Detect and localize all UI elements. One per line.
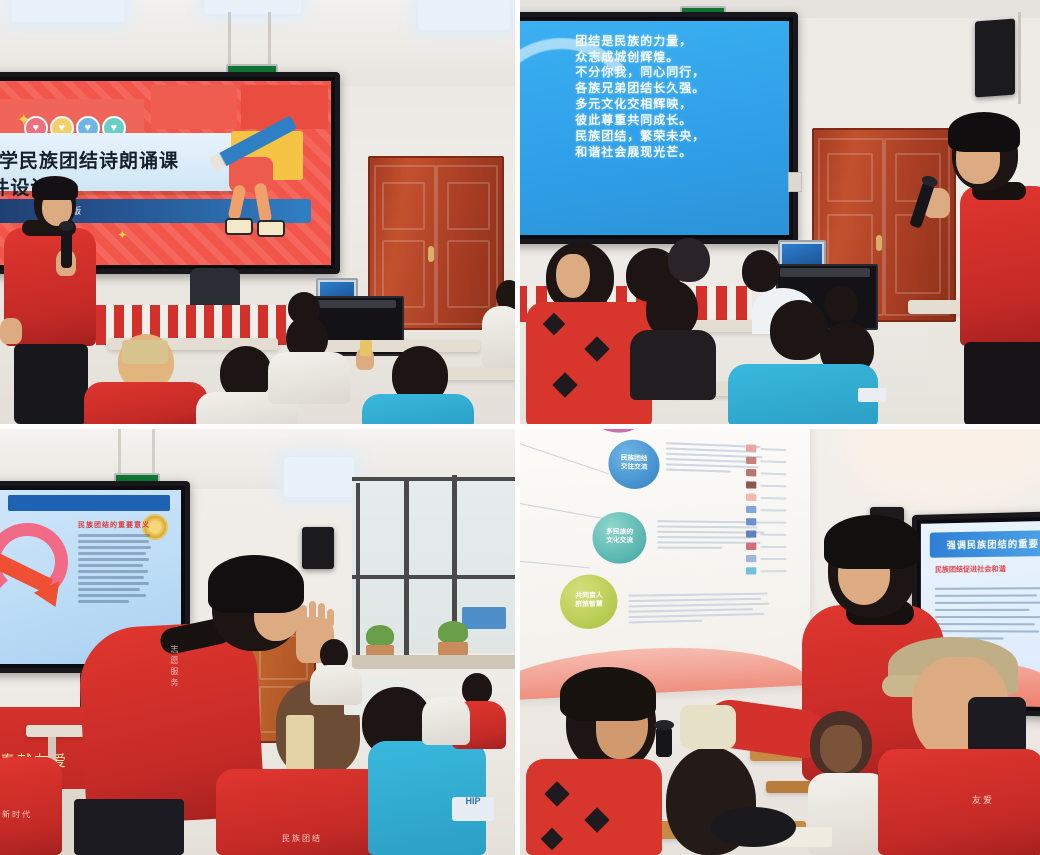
window-mullion — [404, 479, 409, 655]
hoodie-graphic: HIP — [452, 797, 494, 821]
legend-row — [746, 543, 786, 550]
plant-foliage — [438, 621, 468, 643]
student-hair — [560, 667, 656, 721]
student-head — [288, 292, 320, 324]
legend-row — [746, 518, 786, 526]
hair-clip-icon — [122, 340, 168, 364]
student-head — [824, 286, 858, 322]
decorative-blob — [595, 429, 640, 434]
node-label: 多民族的 文化交流 — [606, 529, 633, 546]
legend-row — [746, 555, 786, 562]
teacher-hair — [948, 112, 1020, 152]
door-panel — [447, 182, 491, 230]
slide-heading: 民族团结的重要意义 — [78, 520, 152, 530]
infographic-node-1: 民族团结 交往交流 — [608, 439, 659, 490]
student-torso — [84, 382, 208, 424]
collage-panel-bottom-right[interactable]: 民族团结 交往交流 多民族的 文化交流 共同富人 群策智慧 — [520, 429, 1040, 855]
teacher-torso — [960, 186, 1040, 346]
volunteer-trousers — [74, 799, 184, 855]
rack-handle — [780, 268, 870, 277]
presenter-trousers — [14, 344, 88, 424]
ceiling-light — [12, 0, 124, 22]
potted-plant — [438, 621, 468, 657]
poem-line: 和谐社会展现光芒。 — [575, 145, 745, 161]
tshirt-print: 友爱 — [972, 795, 1030, 827]
legend-row — [746, 481, 786, 489]
infographic-legend — [746, 444, 786, 579]
door-handle[interactable] — [876, 235, 882, 251]
ceiling-light — [284, 457, 354, 497]
legend-row — [746, 530, 786, 537]
text-line — [78, 594, 146, 597]
student-head — [668, 238, 710, 282]
infographic-paragraph — [629, 590, 773, 627]
volunteer-side-torso — [0, 757, 62, 855]
door-panel — [827, 153, 873, 203]
window-mullion — [356, 483, 360, 655]
connector-line — [520, 560, 590, 569]
wall-speaker — [302, 527, 334, 569]
ceiling-light — [418, 0, 510, 30]
student-torso — [630, 330, 716, 400]
slide-heading-text: 强调民族团结的重要 — [947, 537, 1039, 552]
collage-panel-top-left[interactable]: ▯↦▯ ✦ ✦ ♥ ♥ ♥ ♥ — [0, 0, 515, 424]
conduit — [1018, 12, 1021, 104]
slide-body-text — [935, 582, 1040, 645]
student-head — [742, 250, 780, 292]
slide-content-top-right: 团结是民族的力量， 众志成城创辉煌。 不分你我，同心同行， 各族兄弟团结长久强。… — [520, 21, 789, 235]
student-face — [556, 254, 590, 298]
slide-subheading: 民族团结促进社会和谐 — [935, 564, 1006, 575]
potted-plant — [366, 625, 394, 659]
rack-handle — [314, 300, 396, 308]
presenter-hand — [0, 318, 22, 344]
plant-foliage — [366, 625, 394, 646]
sparkle-icon: ✦ — [117, 228, 127, 242]
poem-line: 民族团结，繁荣未央， — [575, 129, 745, 145]
poem-line: 多元文化交相辉映， — [575, 97, 745, 113]
clothing-graphic — [858, 388, 886, 402]
display-screen: 团结是民族的力量， 众志成城创辉煌。 不分你我，同心同行， 各族兄弟团结长久强。… — [520, 21, 789, 235]
wall-speaker — [975, 19, 1015, 98]
finger — [309, 601, 316, 625]
collage-panel-top-right[interactable]: ▯↦▯ 团结是民族的力量， 众志成城创辉煌。 不分你我，同心同行， 各族兄弟团结… — [520, 0, 1040, 424]
sign-hanger — [268, 12, 271, 64]
window-mullion — [352, 477, 515, 481]
illustration-shoe — [257, 220, 285, 237]
student-torso — [268, 352, 350, 404]
collage-gutter-horizontal — [0, 424, 1040, 429]
microphone[interactable] — [656, 727, 672, 757]
illustration-leg — [227, 184, 246, 221]
text-line — [78, 546, 151, 549]
slide-text-column: 民族团结的重要意义 — [78, 520, 152, 606]
window-sill — [352, 655, 515, 669]
door-panel — [382, 182, 426, 230]
tshirt-print: 志愿服务 — [150, 645, 180, 703]
text-line — [78, 576, 144, 579]
poem-line: 彼此尊重共同成长。 — [575, 113, 745, 129]
neck-scarf — [968, 697, 1026, 755]
poem-line: 团结是民族的力量， — [575, 34, 745, 50]
student-face — [820, 725, 862, 773]
photo-collage: ▯↦▯ ✦ ✦ ♥ ♥ ♥ ♥ — [0, 0, 1040, 855]
student-torso — [728, 364, 878, 424]
connector-line — [520, 502, 612, 521]
node-label: 民族团结 交往交流 — [621, 456, 648, 474]
sign-hanger — [228, 12, 231, 64]
text-line — [78, 582, 149, 585]
collage-panel-bottom-left[interactable]: ▯↦▯ 民族团结的重要意义 — [0, 429, 515, 855]
volunteer-hair — [208, 555, 304, 613]
legend-row — [746, 444, 786, 453]
slide-top-bar — [8, 495, 170, 511]
tshirt-print: 新时代 — [2, 809, 58, 831]
legend-row — [746, 494, 786, 502]
held-cloth — [680, 705, 736, 749]
text-line — [78, 570, 148, 573]
teacher-trousers — [964, 342, 1040, 424]
text-line — [78, 588, 140, 591]
node-label: 共同富人 群策智慧 — [575, 593, 603, 610]
observer-torso — [422, 697, 470, 745]
text-line — [78, 534, 150, 537]
text-line — [78, 552, 146, 555]
projection-screen[interactable]: 团结是民族的力量， 众志成城创辉煌。 不分你我，同心同行， 各族兄弟团结长久强。… — [520, 12, 798, 244]
finger — [300, 605, 307, 625]
legend-row — [746, 469, 786, 477]
sign-hanger — [118, 429, 121, 473]
student-torso — [310, 665, 362, 705]
ceiling-light — [205, 0, 301, 14]
infographic-node-3: 共同富人 群策智慧 — [560, 574, 617, 629]
text-line — [78, 540, 149, 543]
window-mullion — [352, 575, 515, 579]
poem-line: 各族兄弟团结长久强。 — [575, 81, 745, 97]
slide-arrow-illustration — [0, 521, 67, 629]
text-line — [78, 564, 143, 567]
wall-switch[interactable] — [788, 172, 802, 192]
student-torso — [482, 306, 515, 368]
legend-row — [746, 457, 786, 466]
sign-hanger — [152, 429, 155, 473]
hair-clip-icon — [286, 715, 314, 773]
dark-container — [710, 807, 796, 847]
student-desk — [440, 368, 515, 380]
text-line — [78, 558, 149, 561]
illustration-shoe — [225, 218, 253, 235]
tshirt-print: 民族团结 — [282, 833, 354, 855]
door-panel — [447, 240, 491, 309]
slide-title-text: 小学民族团结诗朗诵课 — [0, 151, 179, 173]
volunteer-hair — [824, 515, 920, 569]
held-object — [360, 340, 372, 356]
finger — [318, 603, 325, 625]
poem-line: 众志成城创辉煌。 — [575, 50, 745, 66]
connector-line — [520, 442, 608, 475]
backpack — [190, 268, 240, 310]
presenter-hair — [32, 176, 78, 200]
poem-line: 不分你我，同心同行， — [575, 65, 745, 81]
slide-heading-bar: 强调民族团结的重要 — [929, 530, 1040, 558]
finger — [327, 609, 334, 627]
text-line — [78, 600, 130, 603]
infographic-node-2: 多民族的 文化交流 — [592, 512, 646, 564]
legend-row — [746, 567, 786, 574]
wall-infographic-board: 民族团结 交往交流 多民族的 文化交流 共同富人 群策智慧 — [520, 429, 810, 702]
poem-text-block: 团结是民族的力量， 众志成城创辉煌。 不分你我，同心同行， 各族兄弟团结长久强。… — [575, 34, 745, 161]
window-view-object — [462, 607, 506, 629]
door-handle[interactable] — [428, 246, 434, 262]
student-torso — [362, 394, 474, 424]
legend-row — [746, 506, 786, 514]
slide-illustration-kid — [211, 121, 311, 239]
microphone[interactable] — [61, 228, 72, 268]
